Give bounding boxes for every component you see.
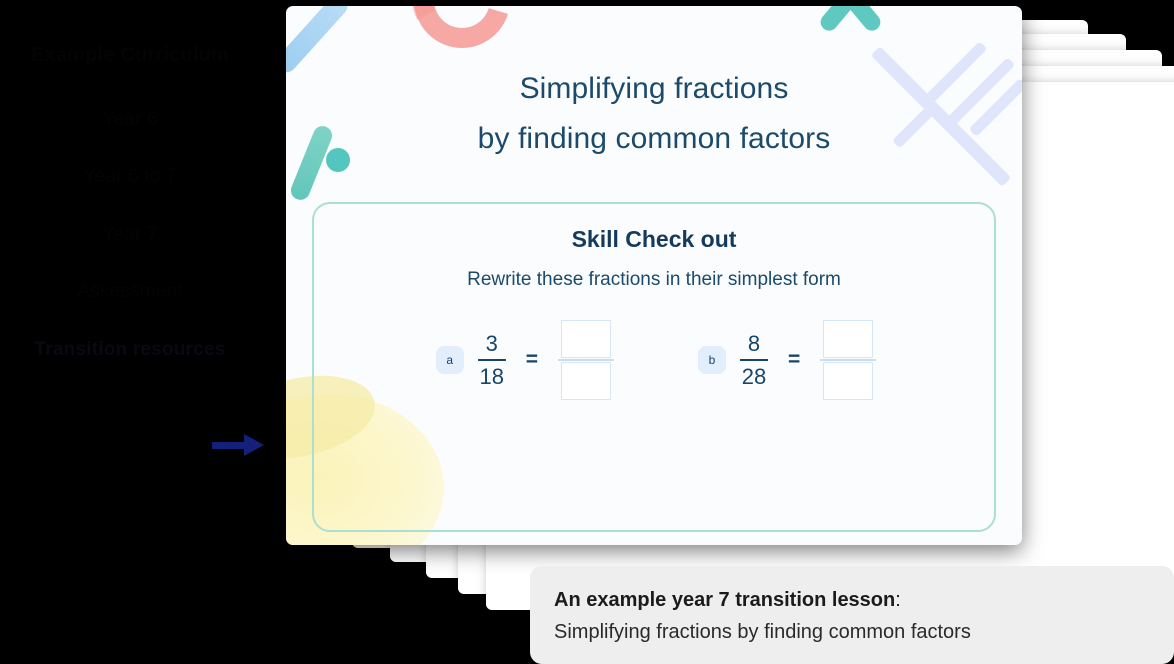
- answer-fraction-a[interactable]: [558, 320, 614, 400]
- answer-fraction-bar: [820, 359, 876, 361]
- caption-colon: :: [895, 589, 901, 611]
- question-a: a 3 18 =: [436, 320, 614, 400]
- fraction-denominator: 28: [742, 363, 766, 391]
- sidebar-item-assessment[interactable]: Assessment: [18, 277, 242, 306]
- question-row: a 3 18 = b: [314, 320, 998, 400]
- answer-denominator-input[interactable]: [561, 362, 611, 400]
- question-label-badge: a: [436, 346, 464, 374]
- arrow-right-icon: [212, 434, 264, 456]
- sidebar-item-year-7[interactable]: Year 7: [18, 220, 242, 249]
- slide-title: Simplifying fractions by finding common …: [286, 64, 1022, 165]
- arc-pink-icon: [400, 6, 521, 58]
- answer-fraction-bar: [558, 359, 614, 361]
- sidebar-item-example-curriculum[interactable]: Example Curriculum: [18, 40, 242, 71]
- answer-denominator-input[interactable]: [823, 362, 873, 400]
- fraction-numerator: 3: [486, 330, 498, 358]
- fraction-given-b: 8 28: [740, 330, 768, 391]
- fraction-bar: [740, 359, 768, 361]
- slide-title-line-2: by finding common factors: [286, 114, 1022, 164]
- active-slide[interactable]: Simplifying fractions by finding common …: [286, 6, 1022, 545]
- sidebar: Example Curriculum Year 6 Year 6 to 7 Ye…: [0, 0, 258, 664]
- screenshot-root: Example Curriculum Year 6 Year 6 to 7 Ye…: [0, 0, 1174, 664]
- slide-deck[interactable]: 3 Simplifying fractions by finding commo…: [258, 0, 1174, 560]
- skill-check-instruction: Rewrite these fractions in their simples…: [314, 269, 994, 291]
- caption-title-line: An example year 7 transition lesson:: [554, 584, 1150, 616]
- chevron-teal-icon: [828, 6, 880, 40]
- fraction-numerator: 8: [748, 330, 760, 358]
- arrow-shaft: [212, 442, 248, 449]
- question-b: b 8 28 =: [698, 320, 876, 400]
- sidebar-item-year-6-to-7[interactable]: Year 6 to 7: [18, 162, 242, 191]
- answer-numerator-input[interactable]: [823, 320, 873, 358]
- sidebar-item-year-6[interactable]: Year 6: [18, 105, 242, 134]
- equals-sign: =: [788, 348, 800, 372]
- answer-numerator-input[interactable]: [561, 320, 611, 358]
- equals-sign: =: [526, 348, 538, 372]
- fraction-bar: [478, 359, 506, 361]
- caption-subtitle: Simplifying fractions by finding common …: [554, 616, 1150, 648]
- question-label-badge: b: [698, 346, 726, 374]
- slide-title-line-1: Simplifying fractions: [286, 64, 1022, 114]
- fraction-denominator: 18: [479, 363, 503, 391]
- fraction-given-a: 3 18: [478, 330, 506, 391]
- caption-box: An example year 7 transition lesson: Sim…: [530, 566, 1174, 664]
- skill-check-heading: Skill Check out: [314, 226, 994, 253]
- caption-bold-text: An example year 7 transition lesson: [554, 589, 895, 611]
- answer-fraction-b[interactable]: [820, 320, 876, 400]
- skill-check-panel: Skill Check out Rewrite these fractions …: [312, 202, 996, 532]
- sidebar-item-transition-resources[interactable]: Transition resources: [18, 335, 242, 364]
- arc-pink-icon: [397, 6, 527, 65]
